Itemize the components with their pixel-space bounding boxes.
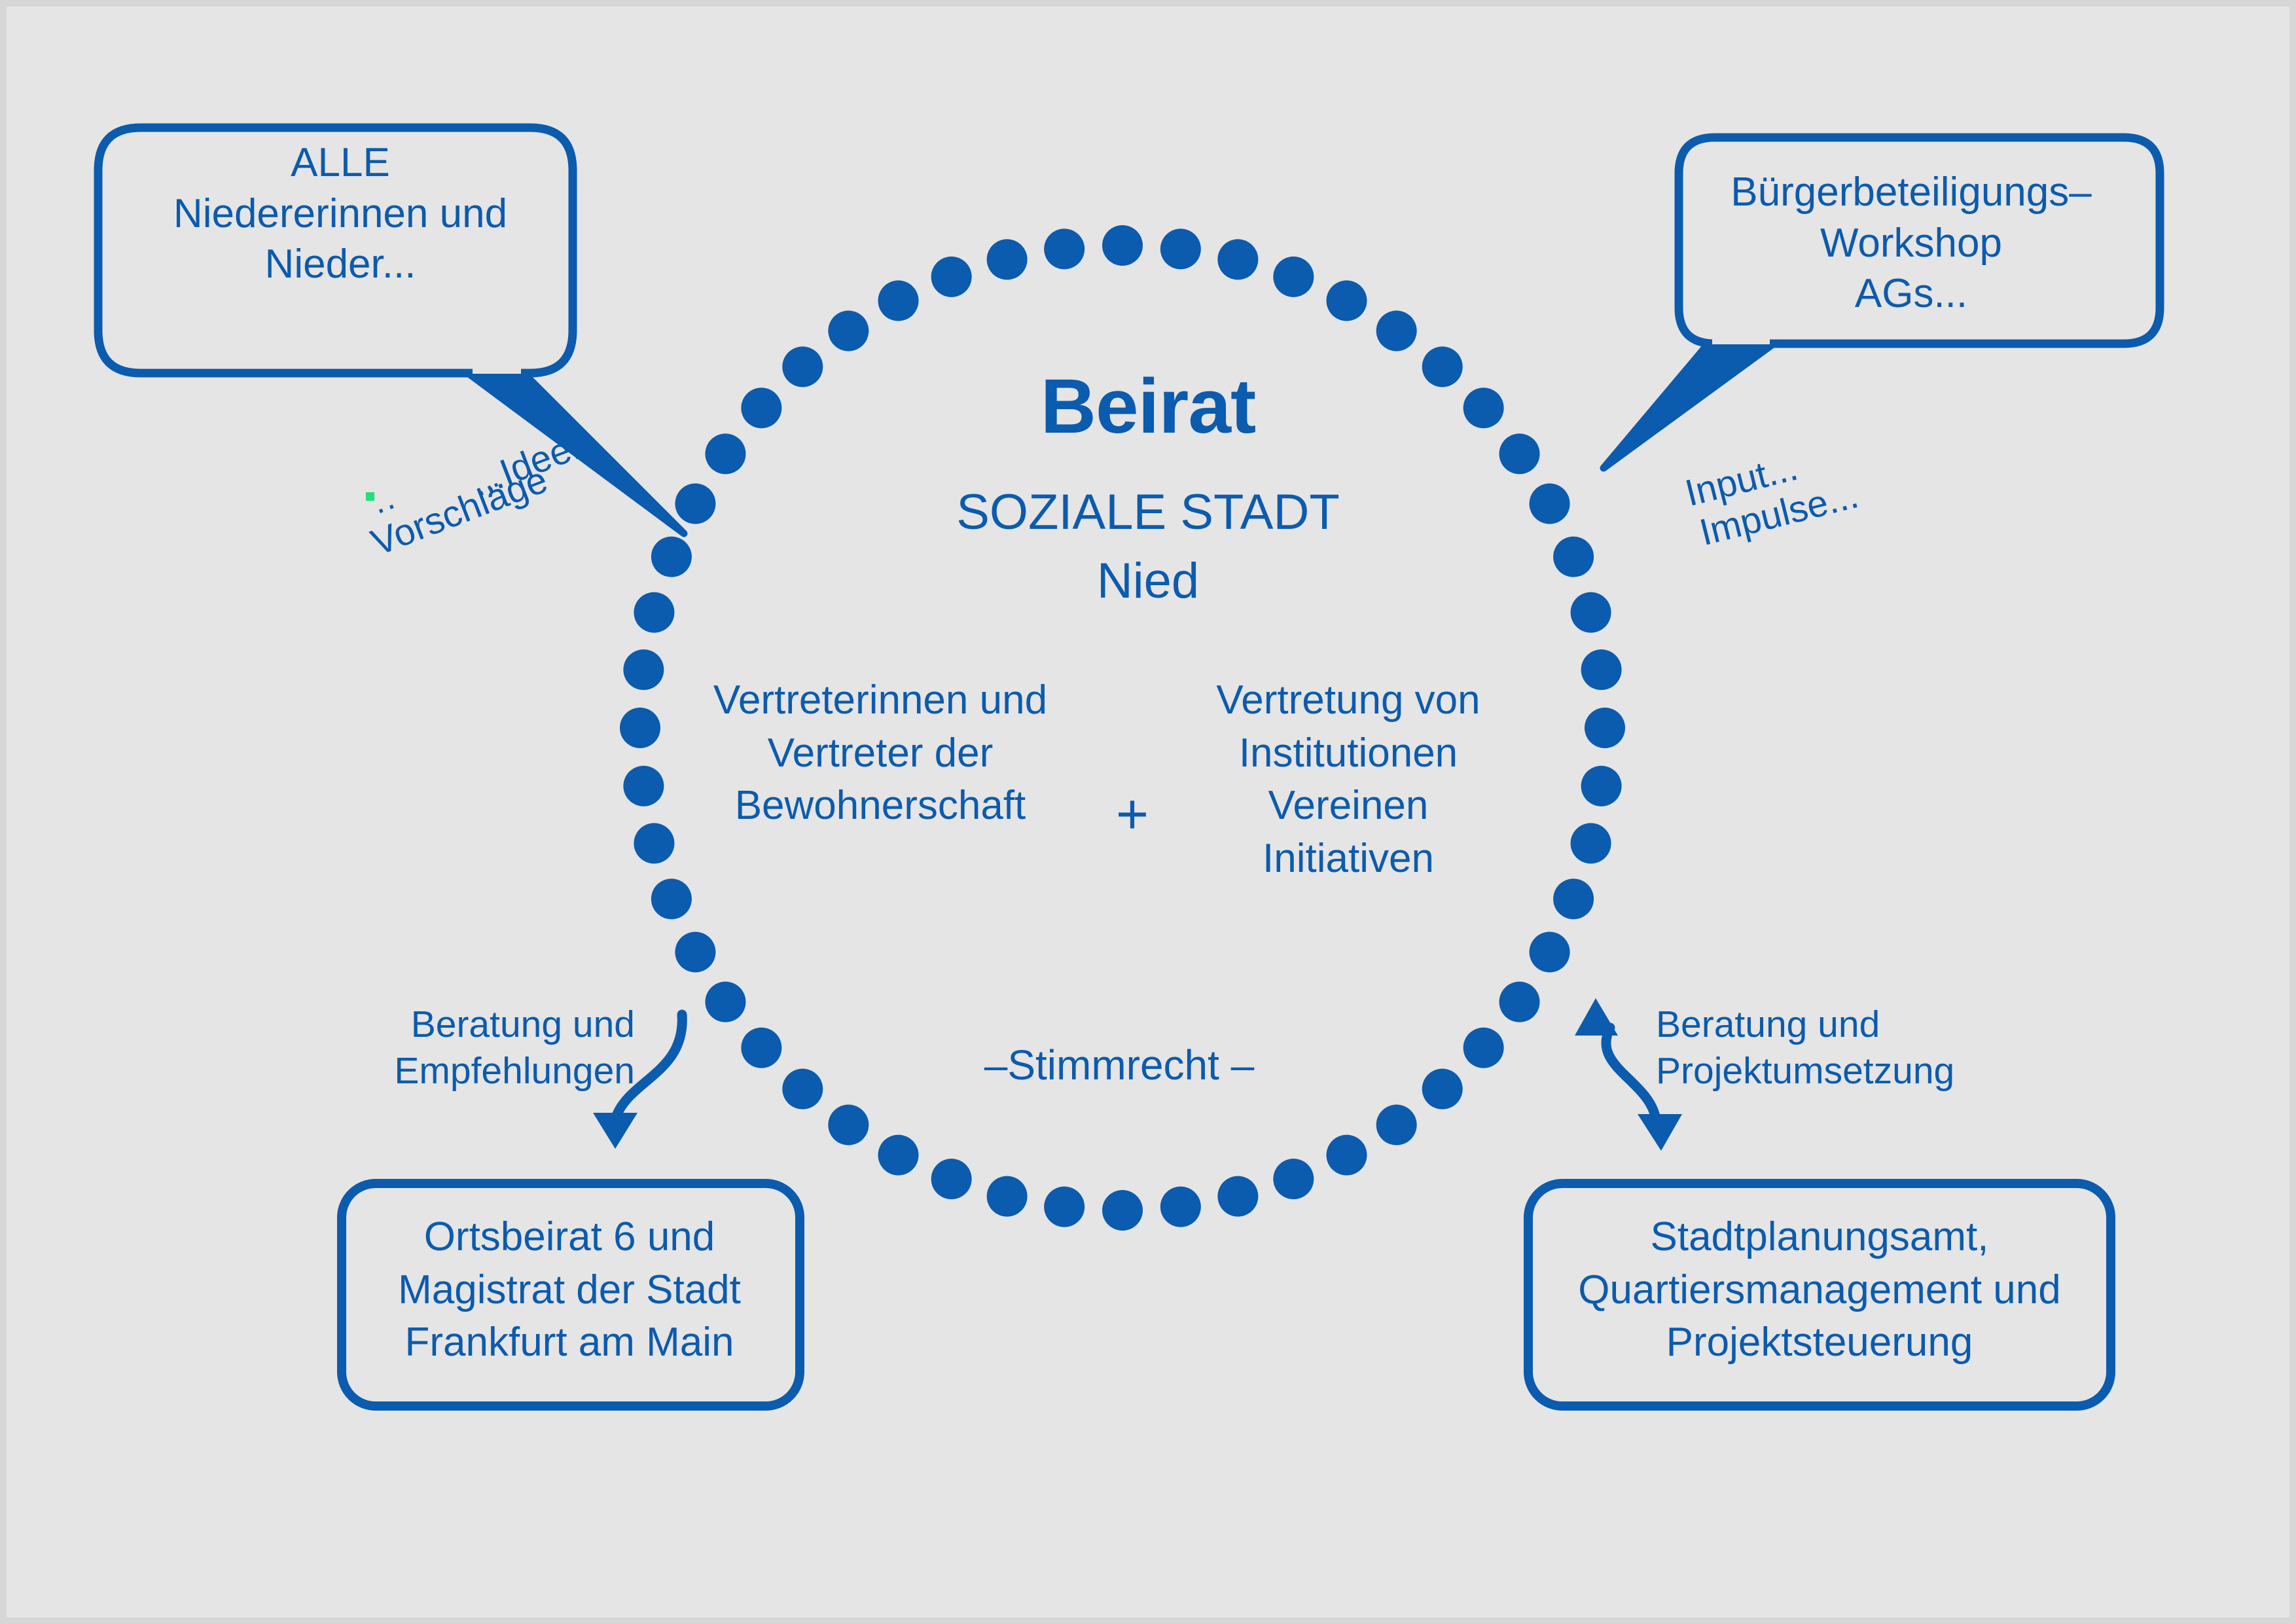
circle-dot — [1217, 239, 1258, 280]
circle-dot — [1553, 878, 1594, 919]
page-title: Beirat — [7, 363, 2289, 450]
circle-dot — [705, 982, 745, 1022]
circle-dot — [1273, 1159, 1314, 1199]
annotation-beratung-projektumsetzung: Beratung und Projektumsetzung — [1656, 1001, 1996, 1095]
circle-dot — [987, 1176, 1028, 1217]
box-ortsbeirat-label: Ortsbeirat 6 und Magistrat der Stadt Fra… — [340, 1211, 798, 1369]
circle-dot — [1581, 766, 1622, 806]
circle-dot — [1273, 257, 1314, 297]
circle-dot — [1044, 228, 1085, 269]
circle-dot — [1102, 225, 1143, 266]
subtitle-nied: Nied — [7, 553, 2289, 609]
circle-dot — [623, 649, 664, 690]
circle-dot — [878, 1135, 919, 1176]
circle-dot — [782, 1069, 823, 1110]
plus-sign: + — [1080, 782, 1185, 847]
circle-dot — [1327, 280, 1367, 321]
circle-dot — [675, 932, 715, 973]
circle-dot — [1327, 1135, 1367, 1176]
circle-dot — [1585, 708, 1625, 748]
circle-dot — [931, 257, 972, 297]
circle-dot — [1571, 823, 1611, 863]
column-bewohnerschaft: Vertreterinnen und Vertreter der Bewohne… — [707, 674, 1054, 833]
circle-dot — [931, 1159, 972, 1199]
circle-dot — [620, 708, 660, 748]
circle-dot — [828, 310, 869, 351]
circle-dot — [634, 823, 674, 863]
annotation-beratung-empfehlungen: Beratung und Empfehlungen — [334, 1001, 635, 1095]
box-stadtplanungsamt-label: Stadtplanungsamt, Quartiersmanagement un… — [1532, 1211, 2108, 1369]
circle-dot — [1463, 1028, 1504, 1068]
bubble-left-text: ALLE Niedererinnen und Nieder... — [105, 137, 576, 290]
circle-dot — [1376, 1105, 1417, 1146]
circle-dot — [651, 878, 692, 919]
circle-dot — [1102, 1190, 1143, 1231]
stimmrecht-note: –Stimmrecht – — [857, 1041, 1381, 1089]
circle-dot — [1160, 228, 1201, 269]
circle-dot — [1160, 1187, 1201, 1227]
circle-dot — [1581, 649, 1622, 690]
circle-dot — [1217, 1176, 1258, 1217]
diagram-canvas: ALLE Niedererinnen und Nieder... Bürgerb… — [0, 0, 2296, 1624]
circle-dot — [1499, 982, 1540, 1022]
circle-dot — [1044, 1187, 1085, 1227]
circle-dot — [623, 766, 664, 806]
bubble-right-text: Bürgerbeteiligungs– Workshop AGs... — [1682, 167, 2140, 319]
circle-dot — [741, 1028, 781, 1068]
circle-dot — [878, 280, 919, 321]
circle-dot — [828, 1105, 869, 1146]
circle-dot — [1530, 932, 1570, 973]
circle-dot — [1376, 310, 1417, 351]
circle-dot — [1422, 1069, 1463, 1110]
subtitle-soziale-stadt: SOZIALE STADT — [7, 484, 2289, 540]
column-institutionen: Vertretung von Institutionen Vereinen In… — [1204, 674, 1492, 885]
circle-dot — [987, 239, 1028, 280]
